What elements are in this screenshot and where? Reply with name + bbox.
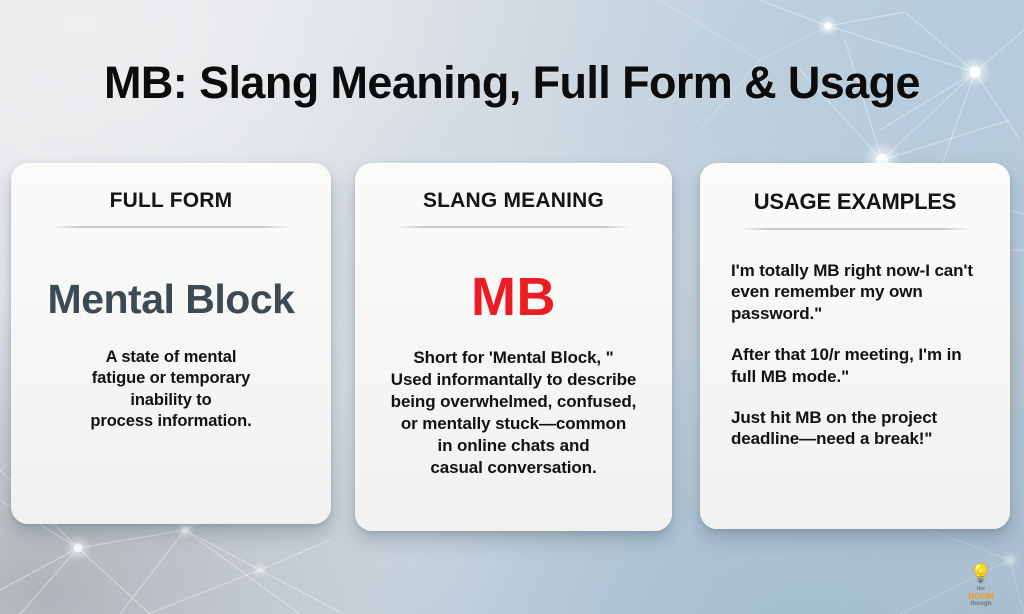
body-line: in online chats and bbox=[373, 435, 654, 457]
usage-example: I'm totally MB right now-I can't even re… bbox=[731, 260, 990, 324]
lightbulb-icon: 💡 bbox=[957, 565, 1005, 587]
body-line: Used informantally to describe bbox=[373, 369, 654, 391]
watermark-line-mid: BOOM bbox=[957, 592, 1005, 601]
body-line: casual conversation. bbox=[373, 457, 654, 479]
usage-examples-list: I'm totally MB right now-I can't even re… bbox=[714, 260, 996, 450]
card-slang-meaning: SLANG MEANING MB Short for 'Mental Block… bbox=[355, 163, 672, 531]
full-form-description: A state of mental fatigue or temporary i… bbox=[25, 347, 317, 433]
slang-description: Short for 'Mental Block, " Used informan… bbox=[369, 347, 658, 480]
body-line: A state of mental bbox=[41, 347, 301, 368]
body-line: Short for 'Mental Block, " bbox=[373, 347, 654, 369]
card-header-full-form: FULL FORM bbox=[25, 189, 317, 213]
card-divider bbox=[739, 228, 970, 230]
body-line: fatigue or temporary bbox=[41, 368, 301, 389]
page-title: MB: Slang Meaning, Full Form & Usage bbox=[0, 57, 1024, 109]
slang-headline: MB bbox=[369, 266, 658, 328]
infographic-canvas: MB: Slang Meaning, Full Form & Usage FUL… bbox=[0, 0, 1024, 614]
card-divider bbox=[51, 226, 290, 228]
card-header-slang-meaning: SLANG MEANING bbox=[369, 189, 658, 213]
card-full-form: FULL FORM Mental Block A state of mental… bbox=[11, 163, 331, 524]
usage-example: After that 10/r meeting, I'm in full MB … bbox=[731, 344, 990, 387]
body-line: being overwhelmed, confused, bbox=[373, 391, 654, 413]
watermark-logo: 💡 the BOOM though bbox=[957, 565, 1005, 609]
body-line: process information. bbox=[41, 411, 301, 432]
card-usage-examples: USAGE EXAMPLES I'm totally MB right now-… bbox=[700, 163, 1010, 529]
card-divider bbox=[395, 226, 632, 228]
body-line: or mentally stuck—common bbox=[373, 413, 654, 435]
usage-example: Just hit MB on the project deadline—need… bbox=[731, 407, 990, 450]
body-line: inability to bbox=[41, 390, 301, 411]
watermark-line-bottom: though bbox=[957, 601, 1005, 607]
card-header-usage-examples: USAGE EXAMPLES bbox=[714, 189, 996, 215]
full-form-headline: Mental Block bbox=[25, 276, 317, 323]
